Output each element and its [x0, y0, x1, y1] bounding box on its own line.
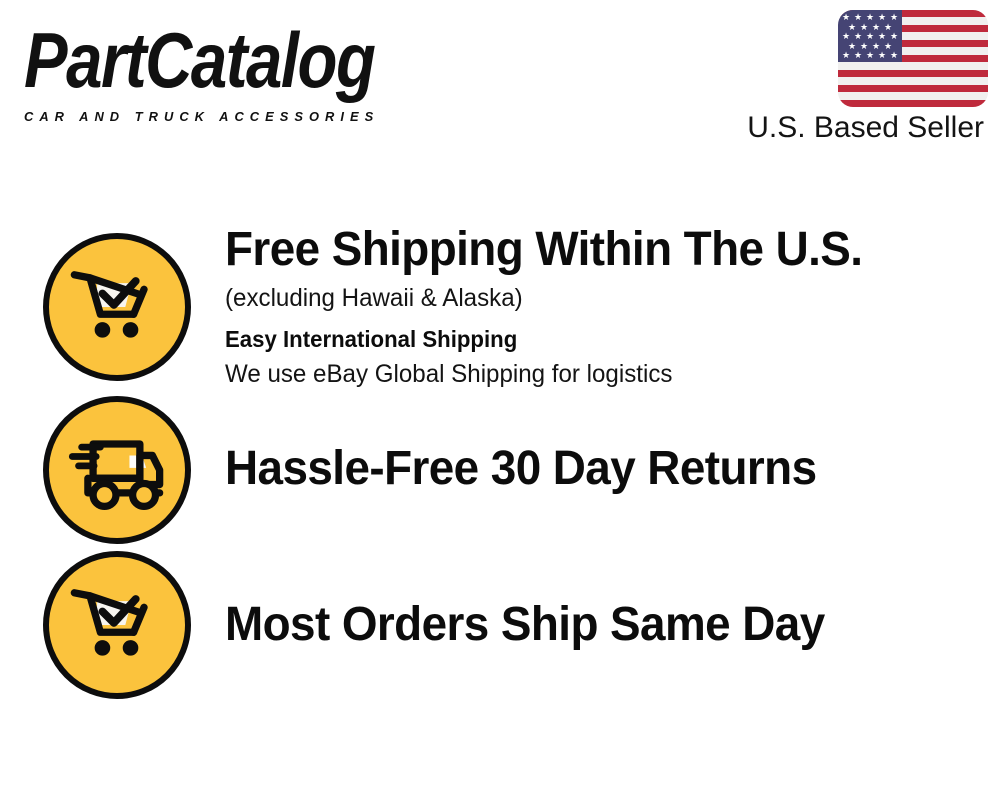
flag-star: ★ — [878, 14, 886, 23]
feature-headline: Hassle-Free 30 Day Returns — [225, 444, 946, 495]
flag-stripe — [838, 100, 988, 107]
feature-text: Free Shipping Within The U.S. (excluding… — [225, 225, 1000, 388]
flag-star: ★ — [842, 14, 850, 23]
flag-star: ★ — [890, 33, 898, 42]
us-flag-icon: ★ ★ ★ ★ ★ ★ ★ ★ ★ ★ ★ ★ ★ ★ — [838, 10, 988, 107]
flag-star: ★ — [866, 52, 874, 61]
shopping-cart-check-glyph — [65, 573, 169, 677]
flag-canton: ★ ★ ★ ★ ★ ★ ★ ★ ★ ★ ★ ★ ★ ★ — [838, 10, 902, 62]
brand-tagline: CAR AND TRUCK ACCESSORIES — [24, 109, 489, 124]
brand-wordmark: PartCatalog — [24, 22, 489, 98]
flag-star: ★ — [842, 52, 850, 61]
flag-stripe — [838, 92, 988, 99]
shopping-cart-check-icon — [43, 233, 191, 381]
flag-star: ★ — [854, 33, 862, 42]
delivery-truck-icon — [43, 396, 191, 544]
flag-star: ★ — [878, 52, 886, 61]
flag-star: ★ — [878, 33, 886, 42]
flag-stripe — [838, 85, 988, 92]
flag-stripe — [838, 77, 988, 84]
banner-header: PartCatalog CAR AND TRUCK ACCESSORIES — [0, 0, 1000, 180]
feature-subtext: (excluding Hawaii & Alaska) — [225, 283, 954, 313]
flag-star: ★ — [842, 33, 850, 42]
delivery-truck-glyph — [65, 418, 169, 522]
shipping-info-banner: PartCatalog CAR AND TRUCK ACCESSORIES — [0, 0, 1000, 800]
feature-row: Hassle-Free 30 Day Returns — [0, 392, 1000, 547]
flag-stripe — [838, 62, 988, 69]
flag-star: ★ — [890, 52, 898, 61]
shopping-cart-check-icon — [43, 551, 191, 699]
flag-star: ★ — [854, 52, 862, 61]
flag-star: ★ — [854, 14, 862, 23]
feature-subtext-strong: Easy International Shipping — [225, 326, 954, 354]
feature-text: Most Orders Ship Same Day — [225, 600, 1000, 651]
feature-subtext-secondary: We use eBay Global Shipping for logistic… — [225, 359, 954, 389]
feature-headline: Most Orders Ship Same Day — [225, 600, 946, 651]
us-based-seller-block: ★ ★ ★ ★ ★ ★ ★ ★ ★ ★ ★ ★ ★ ★ — [688, 10, 988, 146]
flag-star: ★ — [890, 14, 898, 23]
feature-text: Hassle-Free 30 Day Returns — [225, 444, 1000, 495]
shopping-cart-check-glyph — [65, 255, 169, 359]
flag-star: ★ — [866, 33, 874, 42]
flag-stripe — [838, 70, 988, 77]
feature-headline: Free Shipping Within The U.S. — [225, 225, 946, 276]
feature-row: Free Shipping Within The U.S. (excluding… — [0, 212, 1000, 402]
flag-star: ★ — [866, 14, 874, 23]
feature-row: Most Orders Ship Same Day — [0, 540, 1000, 710]
brand-logo: PartCatalog CAR AND TRUCK ACCESSORIES — [24, 22, 494, 124]
us-based-seller-label: U.S. Based Seller — [688, 111, 988, 146]
